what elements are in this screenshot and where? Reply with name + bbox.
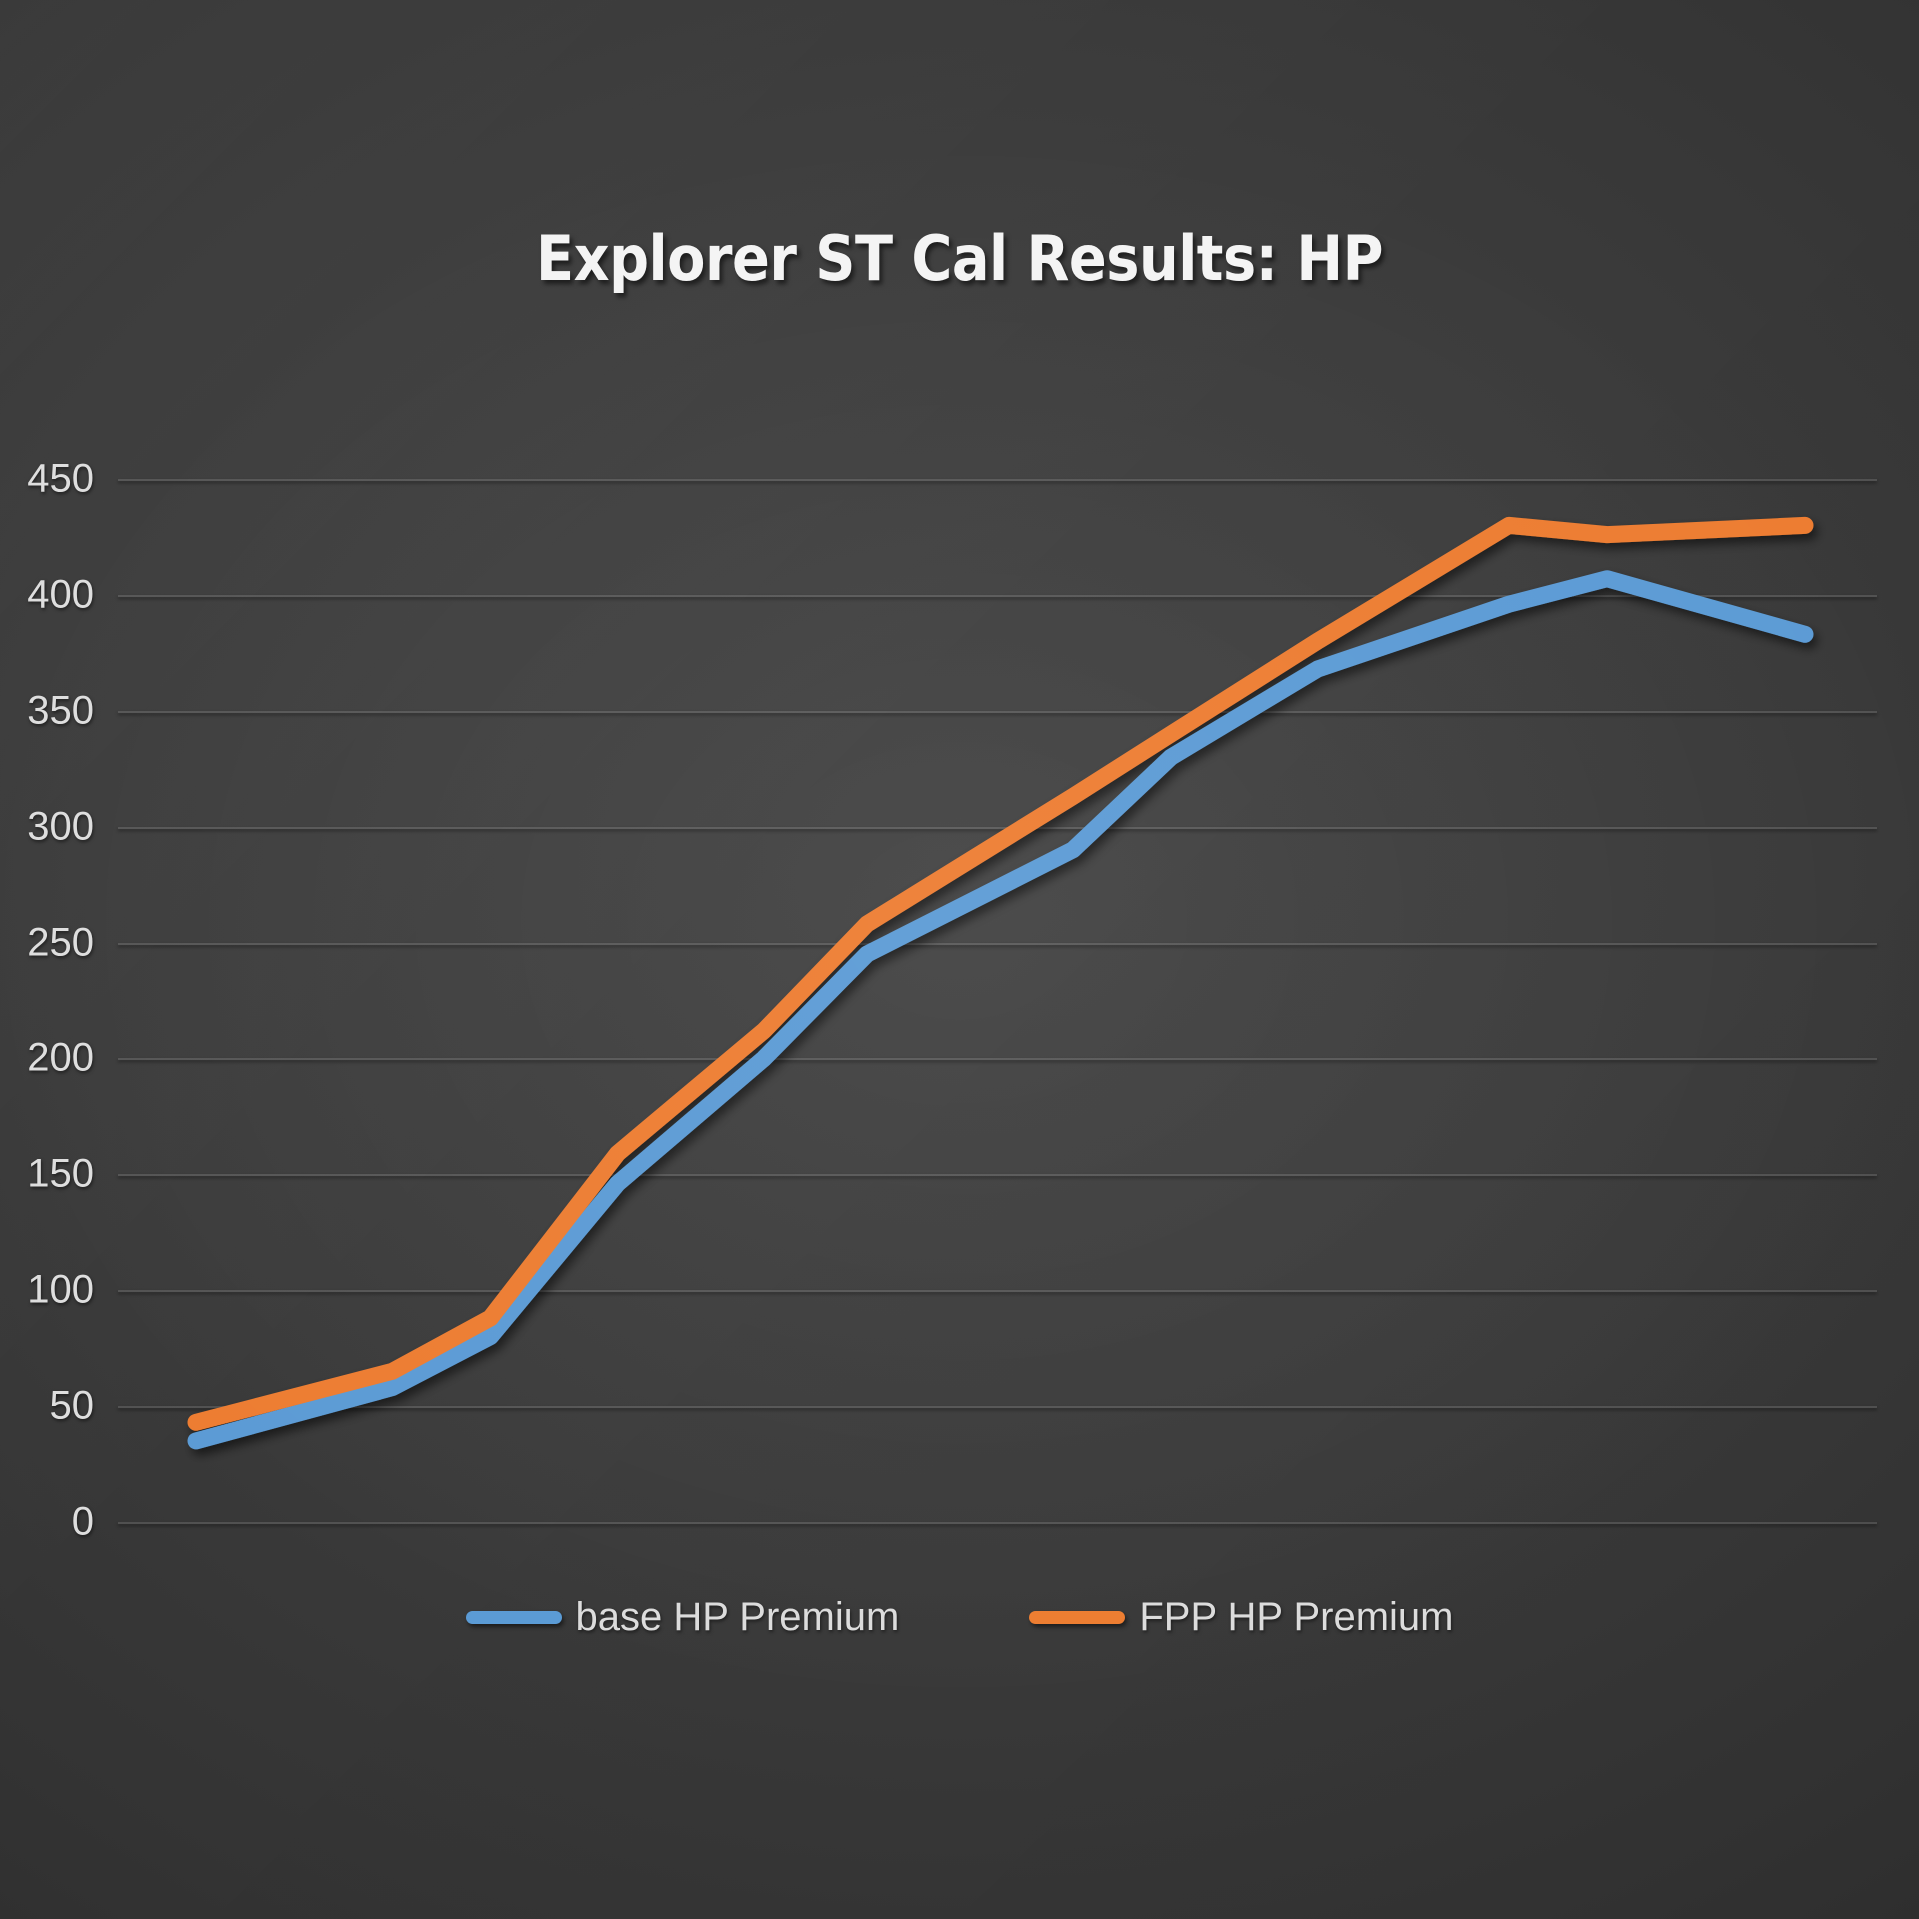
series-line-fpp-hp-premium	[196, 525, 1805, 1422]
legend-item-label: base HP Premium	[576, 1595, 900, 1640]
legend-swatch-fpp-hp-premium	[1029, 1611, 1125, 1624]
chart-canvas: Explorer ST Cal Results: HP 050100150200…	[0, 0, 1919, 1919]
chart-legend: base HP PremiumFPP HP Premium	[0, 1595, 1919, 1640]
legend-swatch-base-hp-premium	[466, 1611, 562, 1624]
legend-item-label: FPP HP Premium	[1139, 1595, 1453, 1640]
series-line-base-hp-premium	[196, 579, 1805, 1441]
legend-item[interactable]: FPP HP Premium	[1029, 1595, 1453, 1640]
legend-item[interactable]: base HP Premium	[466, 1595, 900, 1640]
